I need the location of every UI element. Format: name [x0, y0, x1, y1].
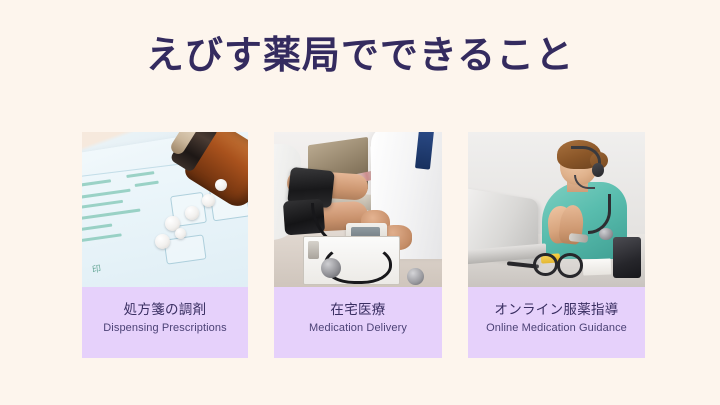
card-title-ja: 処方箋の調剤 — [82, 301, 248, 319]
card-title-ja: 在宅医療 — [274, 301, 442, 319]
page-title: えびす薬局でできること — [0, 32, 720, 80]
service-card-online-medication-guidance[interactable]: オンライン服薬指導 Online Medication Guidance — [468, 132, 645, 358]
service-card-dispensing-prescriptions[interactable]: 印 処方箋の調剤 Dispensing Prescriptions — [82, 132, 248, 358]
card-caption: 処方箋の調剤 Dispensing Prescriptions — [82, 287, 248, 358]
card-caption: 在宅医療 Medication Delivery — [274, 287, 442, 358]
card-caption: オンライン服薬指導 Online Medication Guidance — [468, 287, 645, 358]
card-title-ja: オンライン服薬指導 — [468, 301, 645, 319]
prescription-form-with-pill-bottle-photo: 印 — [82, 132, 248, 287]
online-consultation-nurse-headset-photo — [468, 132, 645, 287]
service-card-row: 印 処方箋の調剤 Dispensing Prescriptions — [82, 132, 645, 358]
card-title-en: Online Medication Guidance — [468, 321, 645, 336]
card-title-en: Dispensing Prescriptions — [82, 321, 248, 336]
card-title-en: Medication Delivery — [274, 321, 442, 336]
home-visit-blood-pressure-check-photo — [274, 132, 442, 287]
presentation-slide: えびす薬局でできること — [0, 0, 720, 405]
service-card-medication-delivery[interactable]: 在宅医療 Medication Delivery — [274, 132, 442, 358]
